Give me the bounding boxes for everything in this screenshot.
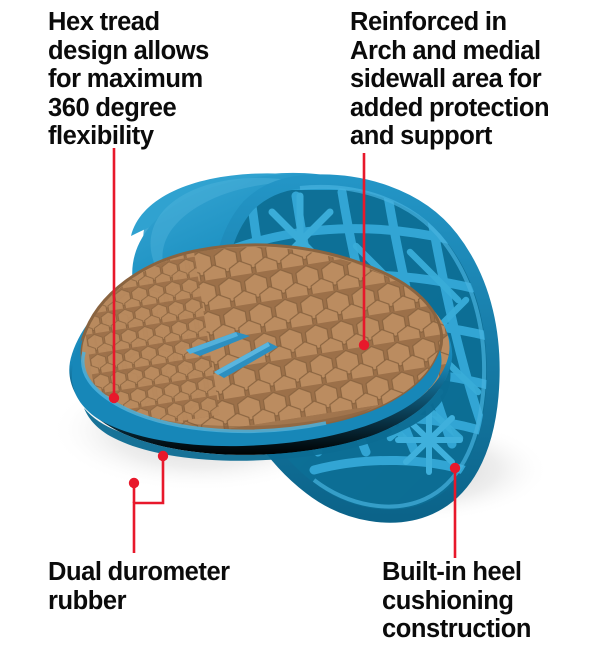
callout-dual-durometer: Dual durometer rubber [48, 558, 298, 615]
callout-reinforced-arch: Reinforced in Arch and medial sidewall a… [350, 8, 600, 151]
leader-hex-tread [109, 148, 119, 403]
callout-heel-cushioning: Built-in heel cushioning construction [382, 558, 600, 644]
leader-heel-cushioning [450, 463, 460, 558]
leader-dual-durometer [129, 451, 168, 553]
infographic-canvas: Hex tread design allows for maximum 360 … [0, 0, 600, 661]
callout-hex-tread: Hex tread design allows for maximum 360 … [48, 8, 308, 151]
leader-reinforced-arch [359, 153, 369, 350]
